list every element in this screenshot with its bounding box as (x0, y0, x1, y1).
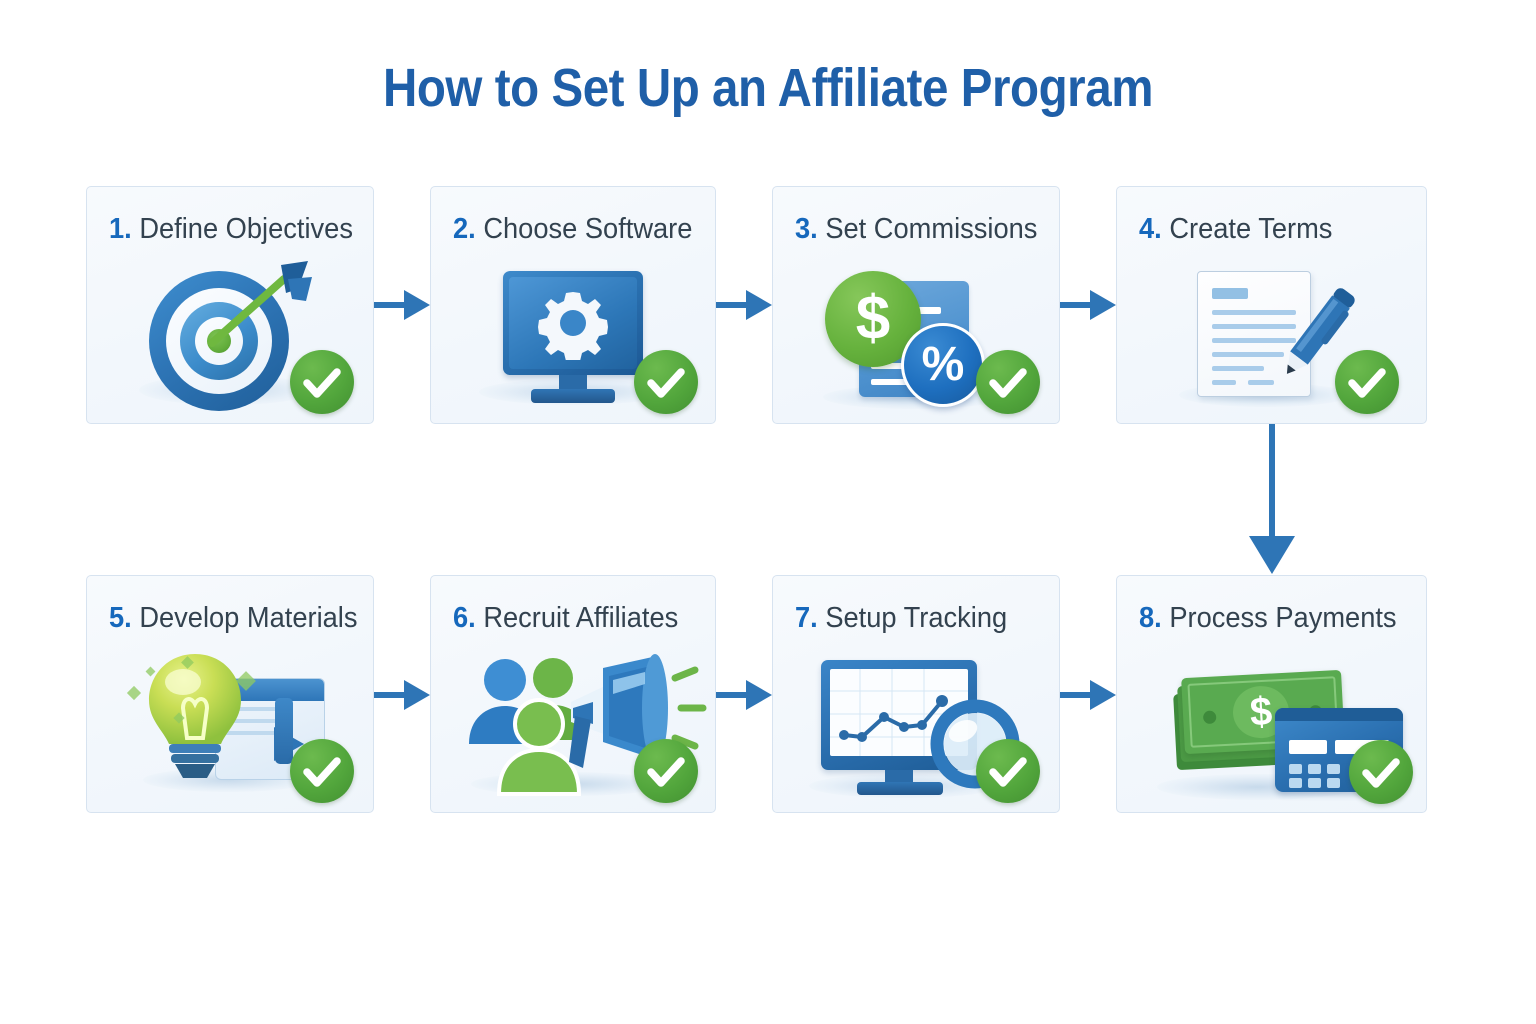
step-number-8: 8. (1139, 602, 1162, 634)
banknote-dollar-symbol: $ (1249, 692, 1273, 733)
step-title-8: Process Payments (1169, 602, 1396, 634)
step-7-check-badge (976, 739, 1040, 803)
step-card-3[interactable]: 3. Set Commissions $ % (772, 186, 1060, 424)
step-title-1: Define Objectives (139, 213, 353, 245)
lightbulb-media-icon (87, 646, 373, 812)
step-title-6: Recruit Affiliates (483, 602, 678, 634)
step-number-7: 7. (795, 602, 818, 634)
cash-credit-card-icon: $ (1117, 646, 1426, 812)
step-card-4[interactable]: 4. Create Terms (1116, 186, 1427, 424)
step-5-check-badge (290, 739, 354, 803)
people-megaphone-icon (431, 646, 715, 812)
step-title-2: Choose Software (483, 213, 692, 245)
step-2-check-badge (634, 350, 698, 414)
document-pen-icon (1117, 257, 1426, 423)
page-title: How to Set Up an Affiliate Program (92, 57, 1444, 119)
step-title-4: Create Terms (1169, 213, 1332, 245)
step-card-8-label: 8. Process Payments (1139, 602, 1397, 635)
monitor-chart-magnifier-icon (773, 646, 1059, 812)
step-number-6: 6. (453, 602, 476, 634)
step-card-5-label: 5. Develop Materials (109, 602, 357, 635)
dollar-percent-coins-icon: $ % (773, 257, 1059, 423)
infographic-canvas: How to Set Up an Affiliate Program 1. De… (0, 0, 1536, 1024)
step-number-3: 3. (795, 213, 818, 245)
dollar-symbol: $ (856, 288, 890, 350)
step-number-1: 1. (109, 213, 132, 245)
step-title-5: Develop Materials (139, 602, 357, 634)
step-number-2: 2. (453, 213, 476, 245)
arrow-step7-to-step8 (1060, 675, 1118, 715)
step-card-1-label: 1. Define Objectives (109, 213, 353, 246)
step-card-1[interactable]: 1. Define Objectives (86, 186, 374, 424)
step-4-check-badge (1335, 350, 1399, 414)
step-title-3: Set Commissions (825, 213, 1037, 245)
step-card-4-label: 4. Create Terms (1139, 213, 1332, 246)
step-number-5: 5. (109, 602, 132, 634)
step-8-check-badge (1349, 740, 1413, 804)
gear-icon (536, 286, 610, 360)
step-card-7[interactable]: 7. Setup Tracking (772, 575, 1060, 813)
arrow-step1-to-step2 (374, 285, 432, 325)
step-card-2[interactable]: 2. Choose Software (430, 186, 716, 424)
step-card-7-label: 7. Setup Tracking (795, 602, 1007, 635)
step-card-6-label: 6. Recruit Affiliates (453, 602, 678, 635)
arrow-step5-to-step6 (374, 675, 432, 715)
percent-symbol: % (922, 341, 965, 389)
step-card-5[interactable]: 5. Develop Materials (86, 575, 374, 813)
target-arrow-icon (87, 257, 373, 423)
arrow-step3-to-step4 (1060, 285, 1118, 325)
step-1-check-badge (290, 350, 354, 414)
arrow-step2-to-step3 (716, 285, 774, 325)
step-card-6[interactable]: 6. Recruit Affiliates (430, 575, 716, 813)
step-card-8[interactable]: 8. Process Payments $ (1116, 575, 1427, 813)
step-6-check-badge (634, 739, 698, 803)
step-number-4: 4. (1139, 213, 1162, 245)
monitor-gear-icon (431, 257, 715, 423)
step-title-7: Setup Tracking (825, 602, 1007, 634)
step-card-3-label: 3. Set Commissions (795, 213, 1037, 246)
step-card-2-label: 2. Choose Software (453, 213, 692, 246)
step-3-check-badge (976, 350, 1040, 414)
arrow-step6-to-step7 (716, 675, 774, 715)
percent-coin-icon: % (901, 323, 985, 407)
arrow-step4-to-step8 (1242, 424, 1302, 576)
